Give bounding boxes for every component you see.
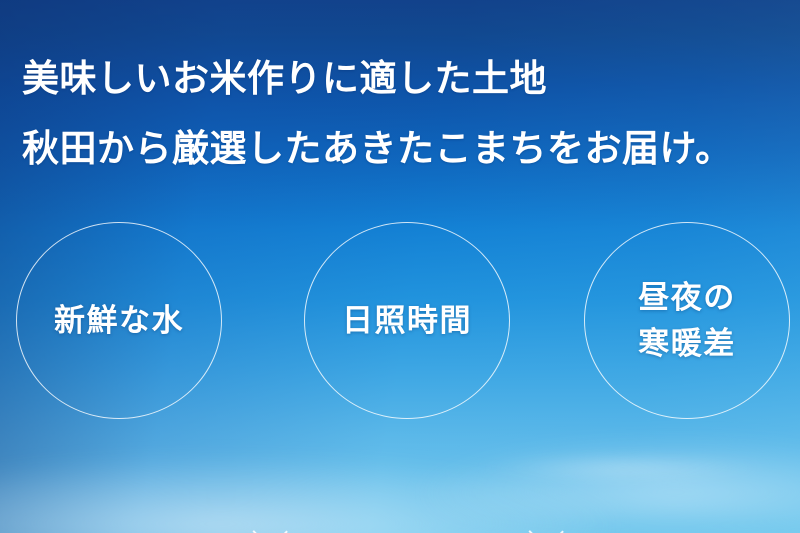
factor-circle-row: 新鮮な水 日照時間 昼夜の 寒暖差 [0,222,800,422]
factor-circle-sunshine-hours: 日照時間 [304,222,510,419]
rice-promo-banner: 美味しいお米作りに適した土地 秋田から厳選したあきたこまちをお届け。 新鮮な水 … [0,0,800,533]
headline-line-2: 秋田から厳選したあきたこまちをお届け。 [22,114,733,184]
multiply-separator-icon-2 [522,524,570,533]
cloud-wisp [464,455,784,481]
factor-circle-temperature-difference: 昼夜の 寒暖差 [584,222,790,419]
headline: 美味しいお米作りに適した土地 秋田から厳選したあきたこまちをお届け。 [22,44,733,184]
factor-label-line-1: 日照時間 [342,303,472,339]
factor-label-line-2: 寒暖差 [638,321,736,367]
factor-circle-fresh-water: 新鮮な水 [16,222,222,419]
multiply-separator-icon-1 [246,524,294,533]
factor-label: 新鮮な水 [54,298,184,344]
factor-label-line-1: 昼夜の [638,280,736,316]
factor-label: 日照時間 [342,298,472,344]
factor-label-line-1: 新鮮な水 [54,303,184,339]
headline-line-1: 美味しいお米作りに適した土地 [22,44,733,114]
factor-label: 昼夜の 寒暖差 [638,275,736,367]
